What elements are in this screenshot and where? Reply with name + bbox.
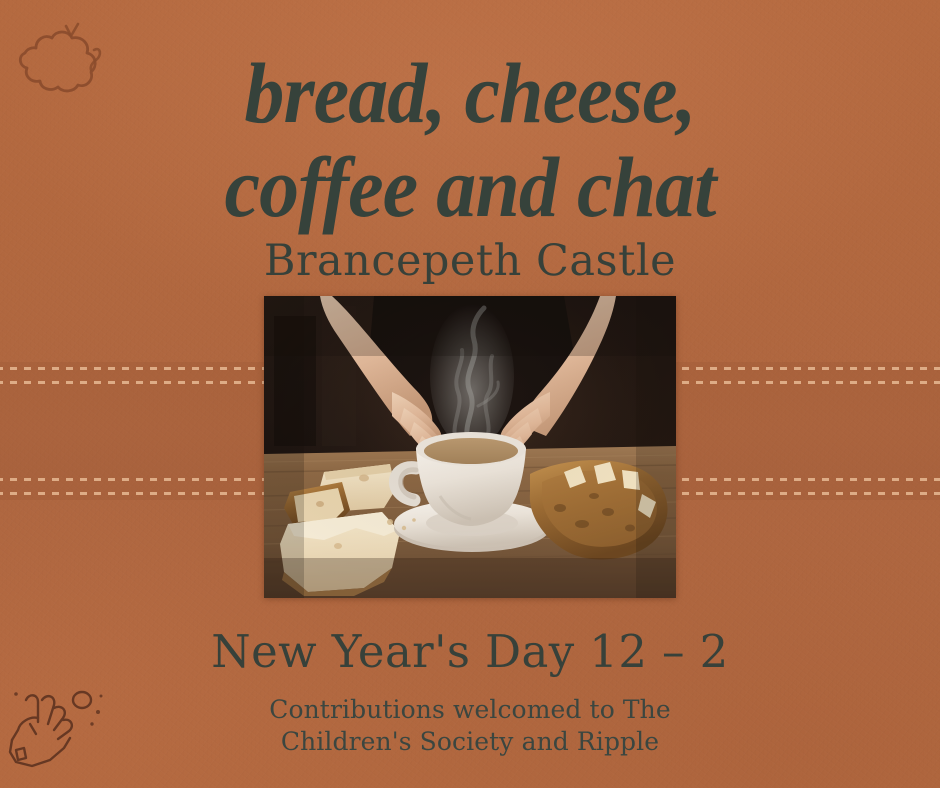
coffee-photo <box>264 296 676 598</box>
event-date: New Year's Day 12 – 2 <box>0 625 940 679</box>
coffee-photo-illustration <box>264 296 676 598</box>
poster-canvas: bread, cheese, coffee and chat Brancepet… <box>0 0 940 788</box>
venue-subtitle: Brancepeth Castle <box>0 236 940 286</box>
contributions-note: Contributions welcomed to The Children's… <box>0 694 940 758</box>
page-title: bread, cheese, coffee and chat <box>33 46 907 234</box>
title-line-1: bread, cheese, <box>33 46 907 140</box>
title-line-2: coffee and chat <box>33 140 907 234</box>
